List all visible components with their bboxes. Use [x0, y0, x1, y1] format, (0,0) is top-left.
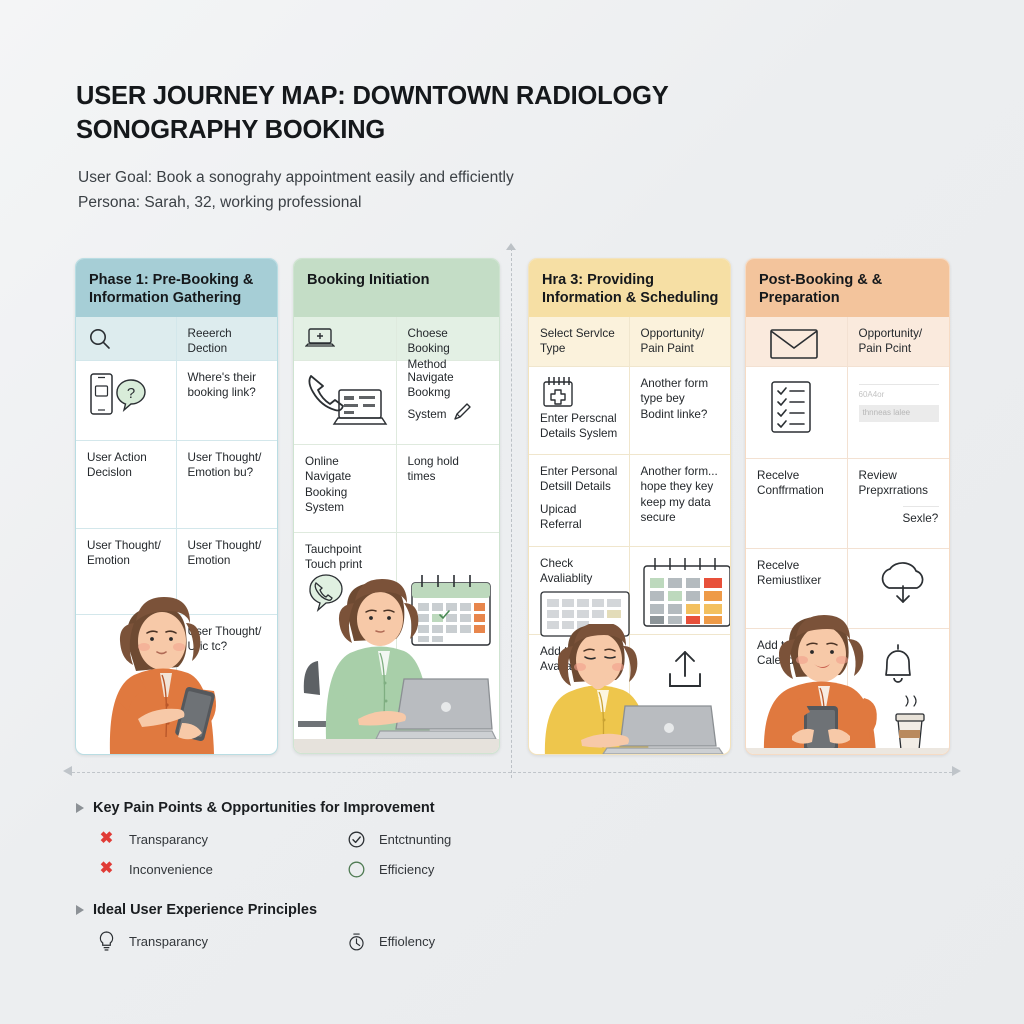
phase-3-header: Hra 3: Providing Information & Schedulin… — [529, 259, 730, 317]
cell-label: User Action Decislon — [76, 441, 177, 529]
cell-label: Tauchpoint Touch print — [294, 533, 397, 747]
table-row: Choese Booking Method — [294, 317, 499, 361]
cell-label: User Thought/ Emotion — [177, 529, 278, 615]
legend-2-columns: Transparancy Effiolency — [98, 930, 598, 952]
calendar-medical-icon — [540, 376, 576, 408]
bell-icon — [875, 642, 921, 690]
table-row: User Thought/ Emotion User Thought/ Emot… — [76, 529, 277, 615]
phone-laptop-icon — [305, 370, 393, 432]
ghost-text-cell: 60A4or thnneas lalee — [848, 367, 950, 459]
table-row: Add to Calendar — [746, 629, 949, 747]
table-row: Recelve Conffrmation Review Prepxrration… — [746, 459, 949, 549]
legend-2-right-column: Effiolency — [348, 930, 598, 952]
phase-3-grid: Select Servlce Type Opportunity/ Pain Pa… — [529, 317, 730, 755]
calendar-medical-cell: Enter Perscnal Details Syslem — [529, 367, 630, 455]
cell-label — [397, 533, 500, 747]
cell-label-with-pencil: Navigate Bookmg System — [397, 361, 500, 445]
lightbulb-icon-wrap — [98, 933, 115, 950]
table-row: Reeerch Dection — [76, 317, 277, 361]
table-row: Check Avaliablity — [529, 547, 730, 635]
cell-label: Opportunity/ Pain Pcint — [848, 317, 950, 367]
list-item[interactable]: Effiolency — [348, 930, 598, 952]
table-row: Add to Availability — [529, 635, 730, 755]
table-row: Navigate Bookmg System — [294, 361, 499, 445]
phone-question-icon-cell: ? — [76, 361, 177, 441]
table-row: Enter Perscnal Details Syslem Another fo… — [529, 367, 730, 455]
cell-label: Recelve Remiustlixer — [746, 549, 848, 629]
calendar-availability-icon — [641, 556, 732, 630]
upload-icon — [663, 648, 707, 692]
cell-label: Navigate Bookmg System — [408, 371, 454, 421]
cell-label: Another form type bey Bodint linke? — [630, 367, 731, 455]
cell-label: Choese Booking Method — [397, 317, 500, 361]
search-icon-cell — [76, 317, 177, 361]
phase-column-3[interactable]: Hra 3: Providing Information & Schedulin… — [528, 258, 731, 755]
envelope-icon-cell — [746, 317, 848, 367]
phone-question-icon: ? — [87, 370, 159, 420]
legend-1-right-column: Entctnunting Efficiency — [348, 828, 598, 880]
phase-column-1[interactable]: Phase 1: Pre-Booking & Information Gathe… — [75, 258, 278, 755]
phase-4-header: Post-Booking & & Preparation — [746, 259, 949, 317]
timeline-arrow-right-icon — [952, 766, 961, 776]
stopwatch-icon — [348, 931, 365, 952]
cell-label: User Thought/ Emotion — [76, 529, 177, 615]
list-item[interactable]: Efficiency — [348, 858, 598, 880]
x-mark-icon: ✖ — [98, 831, 115, 848]
cell-sublabel: Upicad Referral — [540, 502, 619, 533]
phase-column-2[interactable]: Booking Initiation Choese Booking Method — [293, 258, 500, 754]
pencil-icon — [452, 401, 474, 423]
search-icon — [87, 326, 113, 352]
timeline-axis — [72, 772, 952, 773]
circle-icon — [348, 861, 365, 878]
cell-label: Add to Calendar — [746, 629, 848, 747]
table-row: User Thought/ Uric tc? — [76, 615, 277, 743]
table-row: User Action Decislon User Thought/ Emoti… — [76, 441, 277, 529]
journey-map-page: USER JOURNEY MAP: DOWNTOWN RADIOLOGY SON… — [0, 0, 1024, 1024]
legend-1-title-row[interactable]: Key Pain Points & Opportunities for Impr… — [76, 800, 598, 816]
check-circle-icon — [348, 831, 365, 848]
list-item-label: Effiolency — [379, 934, 435, 949]
legend-1-left-column: ✖ Transparancy ✖ Inconvenience — [98, 828, 348, 880]
ux-principles-legend: Ideal User Experience Principles Transpa… — [76, 902, 598, 952]
cloud-download-cell — [848, 549, 950, 629]
phase-1-header: Phase 1: Pre-Booking & Information Gathe… — [76, 259, 277, 317]
list-item-label: Entctnunting — [379, 832, 451, 847]
lightbulb-icon — [98, 930, 115, 952]
cell-label: Add to Availability — [529, 635, 630, 755]
phase-4-grid: Opportunity/ Pain Pcint — [746, 317, 949, 747]
envelope-icon — [769, 326, 819, 360]
cloud-download-icon — [873, 560, 933, 606]
list-item-label: Efficiency — [379, 862, 434, 877]
table-row: Recelve Remiustlixer — [746, 549, 949, 629]
cell-label-group: Enter Personal Detsill Details Upicad Re… — [529, 455, 630, 547]
ghost-text-2: thnneas lalee — [859, 405, 940, 422]
upload-cell — [630, 635, 731, 755]
table-row: Tauchpoint Touch print — [294, 533, 499, 747]
cell-label-group: Review Prepxrrations Sexle? — [848, 459, 950, 549]
list-item-label: Transparancy — [129, 934, 208, 949]
bell-cell — [848, 629, 950, 747]
pain-points-legend: Key Pain Points & Opportunities for Impr… — [76, 800, 598, 880]
triangle-right-icon — [76, 905, 84, 915]
phone-laptop-icon-cell — [294, 361, 397, 445]
legend-1-columns: ✖ Transparancy ✖ Inconvenience E — [98, 828, 598, 880]
table-row: Online Navigate Booking System Long hold… — [294, 445, 499, 533]
list-item[interactable]: Entctnunting — [348, 828, 598, 850]
cell-label: User Thought/ Emotion bu? — [177, 441, 278, 529]
list-item-label: Inconvenience — [129, 862, 213, 877]
legend-2-left-column: Transparancy — [98, 930, 348, 952]
stopwatch-icon-wrap — [348, 933, 365, 950]
cell-label: Where's their booking link? — [177, 361, 278, 441]
list-item[interactable]: Transparancy — [98, 930, 348, 952]
cell-label: Review Prepxrrations — [859, 469, 929, 497]
phase-2-grid: Choese Booking Method — [294, 317, 499, 747]
table-row: 60A4or thnneas lalee — [746, 367, 949, 459]
cell-label: Another form... hope they key keep my da… — [630, 455, 731, 547]
ghost-text-1: 60A4or — [859, 384, 940, 401]
check-circle-icon-wrap — [348, 831, 365, 848]
table-row: Opportunity/ Pain Pcint — [746, 317, 949, 367]
legend-2-title: Ideal User Experience Principles — [93, 902, 317, 918]
checklist-icon — [769, 380, 813, 434]
cell-label: Select Servlce Type — [529, 317, 630, 367]
cell-label: Online Navigate Booking System — [294, 445, 397, 533]
triangle-right-icon — [76, 803, 84, 813]
laptop-plus-icon-cell — [294, 317, 397, 361]
phase-1-grid: Reeerch Dection ? Where's their bo — [76, 317, 277, 743]
cell-label — [76, 615, 177, 743]
calendar-heat-cell — [630, 547, 731, 635]
cell-label: Opportunity/ Pain Paint — [630, 317, 731, 367]
cell-label: Enter Personal Detsill Details — [540, 465, 617, 493]
laptop-plus-icon — [305, 326, 335, 350]
check-availability-cell: Check Avaliablity — [529, 547, 630, 635]
svg-text:?: ? — [127, 385, 135, 402]
cell-label: Enter Perscnal Details Syslem — [540, 412, 617, 440]
list-item-label: Transparancy — [129, 832, 208, 847]
cell-label: Check Avaliablity — [540, 557, 592, 585]
table-row: ? Where's their booking link? — [76, 361, 277, 441]
phase-column-4[interactable]: Post-Booking & & Preparation Opportunity… — [745, 258, 950, 755]
list-item[interactable]: ✖ Transparancy — [98, 828, 348, 850]
cell-label: User Thought/ Uric tc? — [177, 615, 278, 743]
cell-label: Recelve Conffrmation — [746, 459, 848, 549]
cell-label: Long hold times — [397, 445, 500, 533]
phase-divider-line — [511, 248, 512, 778]
timeline-arrow-left-icon — [63, 766, 72, 776]
checklist-icon-cell — [746, 367, 848, 459]
cell-label: Reeerch Dection — [177, 317, 278, 361]
x-mark-icon: ✖ — [98, 861, 115, 878]
cell-sublabel: Sexle? — [903, 506, 940, 526]
circle-icon-wrap — [348, 861, 365, 878]
legend-2-title-row[interactable]: Ideal User Experience Principles — [76, 902, 598, 918]
phase-2-header: Booking Initiation — [294, 259, 499, 317]
availability-grid-icon — [540, 591, 630, 637]
legend-1-title: Key Pain Points & Opportunities for Impr… — [93, 800, 435, 816]
table-row: Select Servlce Type Opportunity/ Pain Pa… — [529, 317, 730, 367]
table-row: Enter Personal Detsill Details Upicad Re… — [529, 455, 730, 547]
list-item[interactable]: ✖ Inconvenience — [98, 858, 348, 880]
